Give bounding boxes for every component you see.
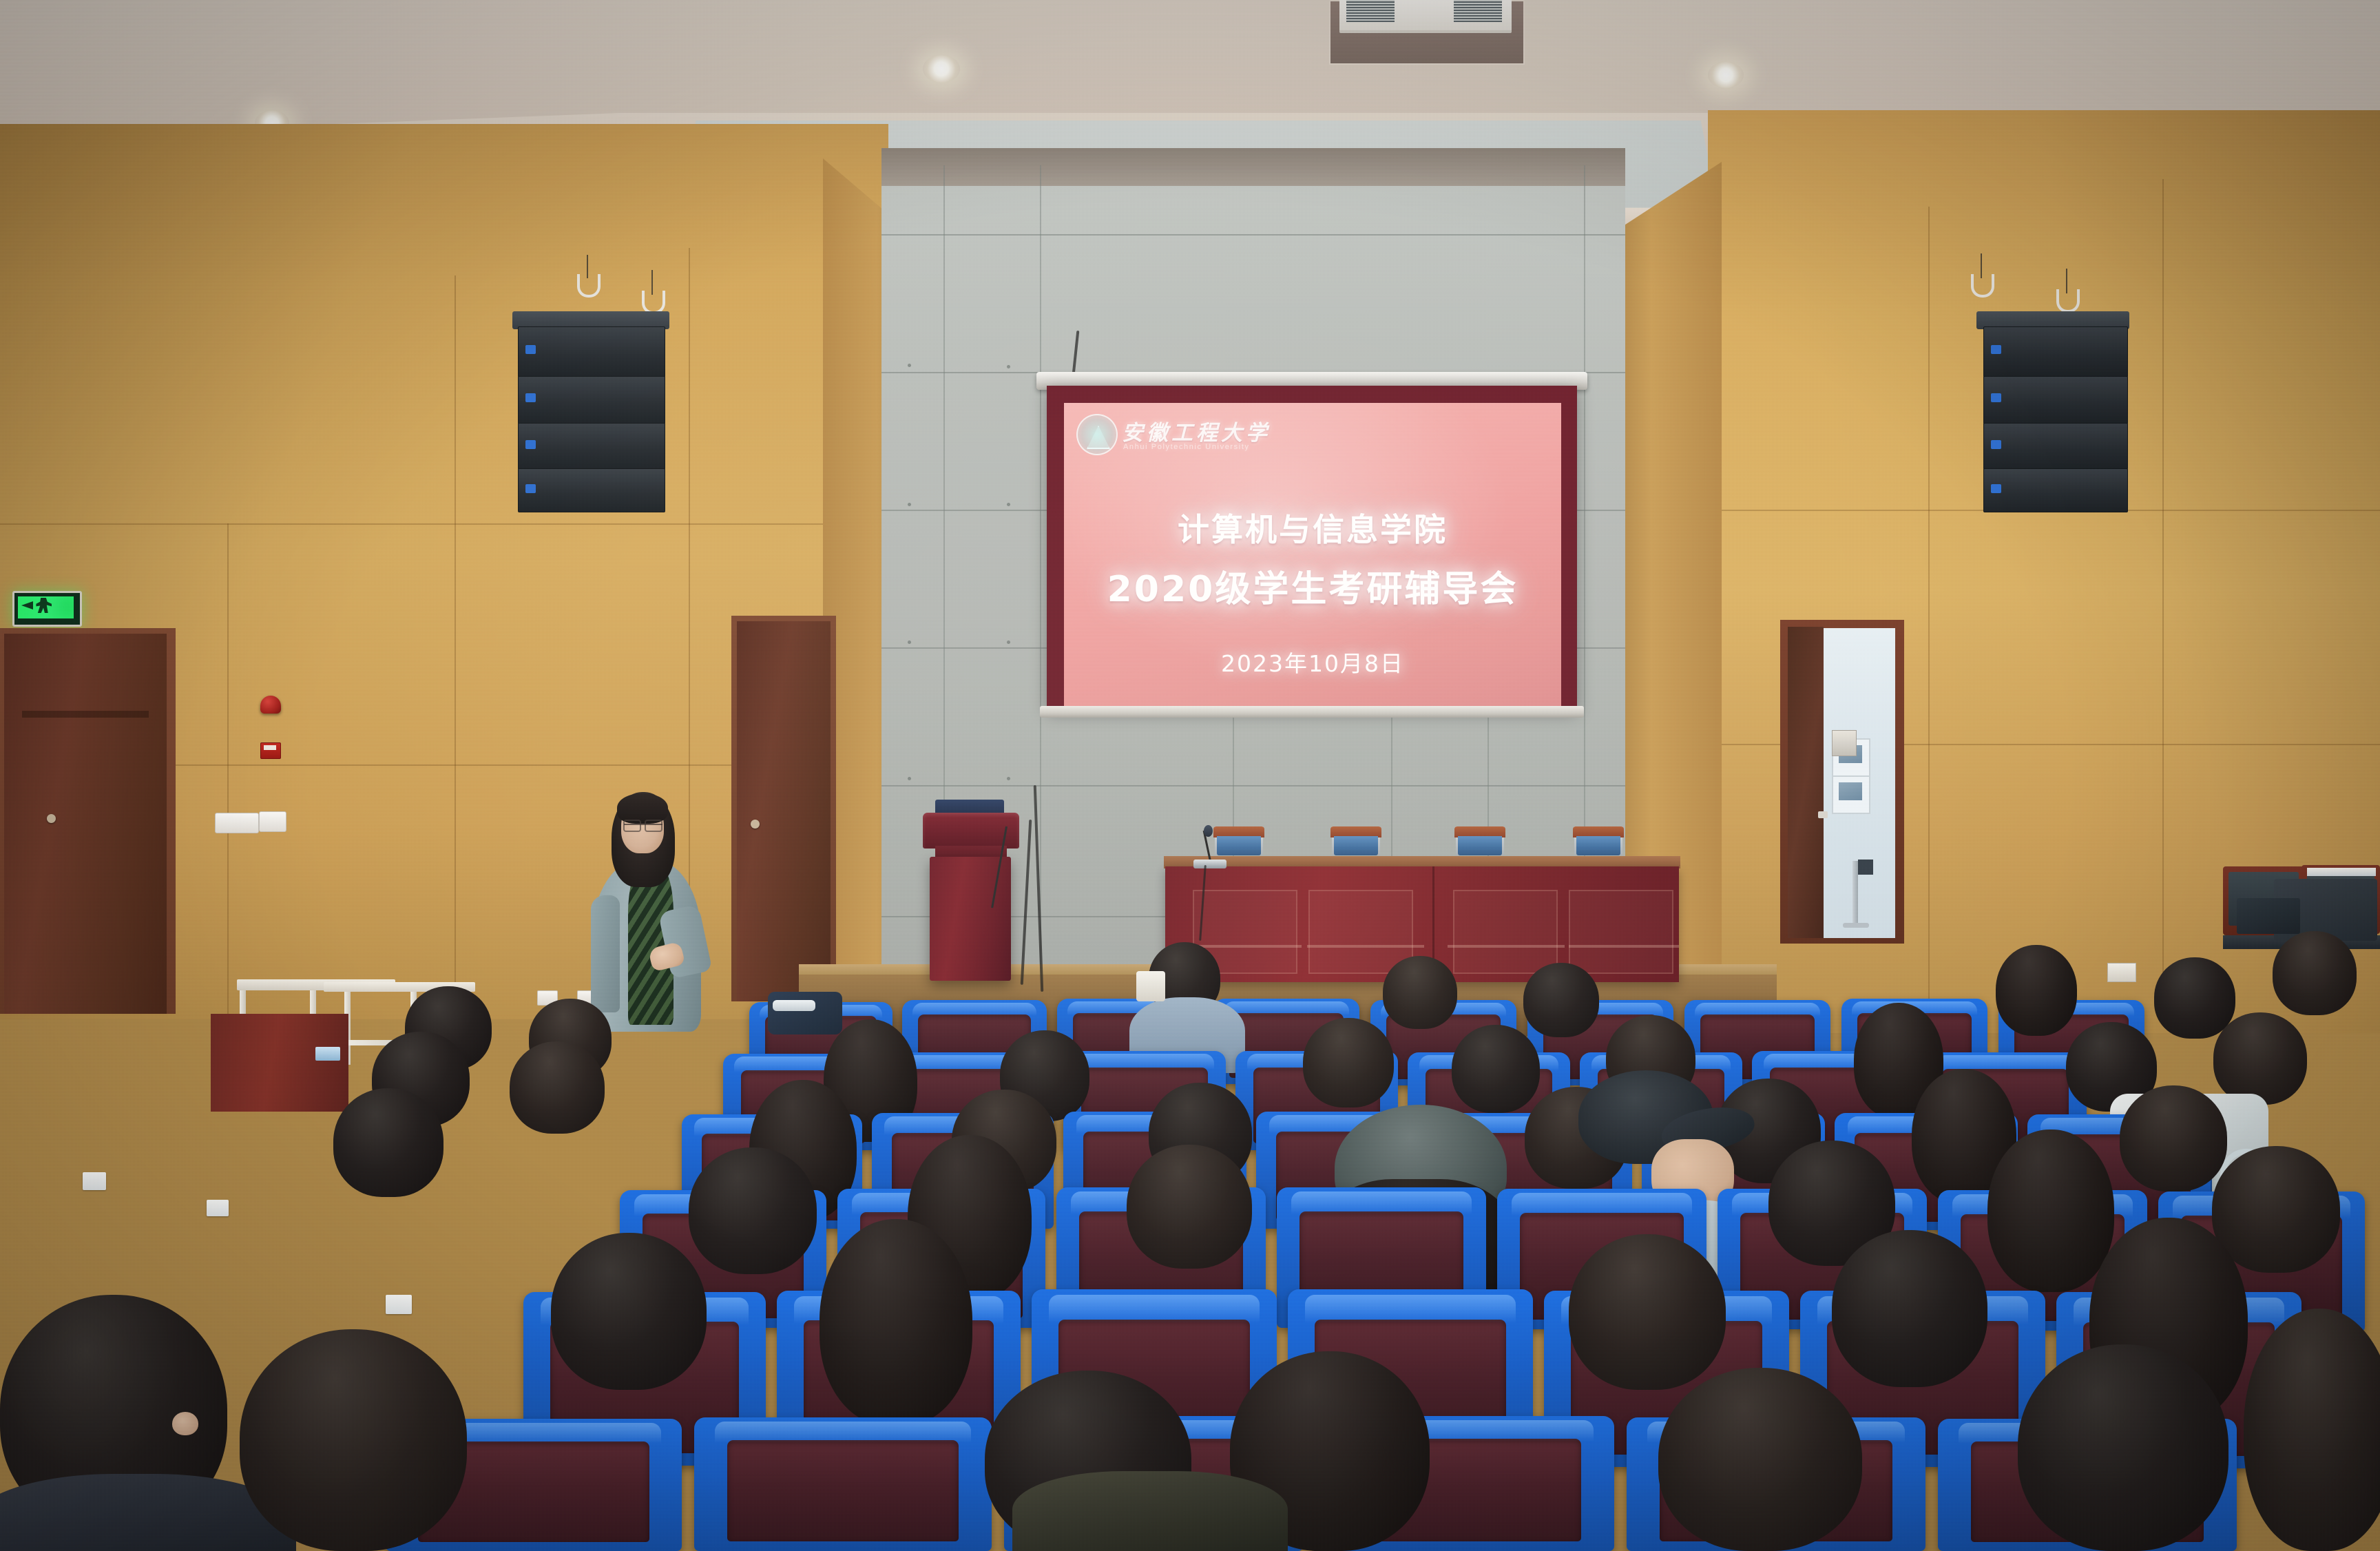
seat-number-label	[207, 1200, 229, 1216]
microphone-capsule	[1204, 825, 1213, 837]
attendee-head	[1127, 1145, 1252, 1269]
attendee-head	[1569, 1234, 1726, 1390]
speaker-hook-icon	[2056, 289, 2080, 313]
paper-on-chair	[2307, 868, 2376, 876]
tile-joint	[881, 234, 1625, 236]
door-handle-icon[interactable]	[1818, 811, 1828, 818]
backpack	[768, 992, 842, 1034]
stage-wall-top-band	[881, 148, 1625, 186]
tile-anchor	[1007, 641, 1010, 644]
fire-alarm-bell	[260, 696, 281, 714]
screen-bottom-bar	[1040, 706, 1584, 718]
downlight	[1708, 62, 1744, 88]
exit-sign	[12, 591, 82, 627]
attendee-head	[2154, 957, 2235, 1039]
speaker-brand-badge	[1991, 484, 2001, 493]
attendee-head-foreground	[2018, 1344, 2228, 1551]
corridor-stand-base	[1843, 923, 1869, 928]
door-right-open[interactable]	[1788, 627, 1824, 938]
door-left-2[interactable]	[737, 621, 831, 1001]
attendee-head	[689, 1147, 817, 1274]
attendee-head	[1987, 1130, 2114, 1292]
speaker-brand-badge	[1991, 345, 2001, 354]
attendee-head	[1523, 963, 1599, 1037]
corridor-wall-box	[1858, 860, 1873, 875]
seat-number-label	[83, 1172, 106, 1190]
wall-seam	[1928, 207, 1930, 1019]
table-rail	[1448, 945, 1565, 948]
university-emblem-icon	[1076, 414, 1118, 455]
speaker-brand-badge	[525, 393, 536, 402]
slide-date: 2023年10月8日	[1064, 645, 1561, 678]
slide-title-line2: 2020级学生考研辅导会	[1064, 560, 1561, 612]
attendee-head-foreground	[240, 1329, 467, 1551]
monitor-screen	[2237, 898, 2300, 934]
wall-seam	[455, 275, 456, 1019]
attendee-head	[2213, 1012, 2307, 1105]
speaker-hook-icon	[577, 274, 601, 298]
attendee-head	[1383, 956, 1457, 1029]
attendee-head	[1832, 1230, 1987, 1387]
tile-anchor	[1007, 365, 1010, 368]
table-rail	[1307, 945, 1424, 948]
table-panel	[1308, 890, 1413, 974]
slide-logo: 安徽工程大学 Anhui Polytechnic University	[1076, 413, 1259, 455]
cabinet-label	[315, 1047, 340, 1061]
slide-title-line1: 计算机与信息学院	[1064, 505, 1561, 550]
tile-joint	[881, 785, 1625, 787]
fire-call-point[interactable]	[260, 742, 281, 759]
light-switch-panel[interactable]	[215, 813, 259, 833]
tile-joint	[1040, 165, 1041, 1006]
attendee-head	[1996, 945, 2077, 1036]
attendee-head	[2120, 1085, 2227, 1191]
door-left[interactable]	[4, 634, 167, 1014]
downlight	[923, 55, 960, 83]
speaker-hook-icon	[642, 291, 665, 314]
glasses-right-lens-icon	[645, 820, 662, 832]
corridor-stand	[1852, 861, 1858, 926]
seat[interactable]	[694, 1417, 992, 1551]
wall-seam	[0, 523, 888, 525]
tile-anchor	[908, 364, 911, 367]
speaker-brand-badge	[525, 484, 536, 493]
table-rail	[1569, 945, 1679, 948]
attendee-shoulders-foreground	[1012, 1471, 1288, 1551]
corridor-picture	[1839, 782, 1862, 800]
tile-anchor	[1007, 503, 1010, 506]
projector	[1339, 0, 1512, 33]
tile-anchor	[1007, 777, 1010, 780]
microphone-base	[1193, 860, 1226, 868]
university-name-cn: 安徽工程大学	[1122, 415, 1271, 446]
speaker-wire	[651, 270, 653, 295]
door-knob-icon[interactable]	[751, 820, 760, 829]
university-name-en: Anhui Polytechnic University	[1123, 443, 1250, 451]
side-cabinet	[211, 1014, 348, 1112]
corridor-frame-lower	[1832, 775, 1870, 814]
light-switch-panel[interactable]	[259, 811, 286, 832]
paper-cup	[1136, 971, 1165, 1001]
attendee-head	[551, 1233, 707, 1390]
attendee-head	[510, 1041, 605, 1134]
seat-number-label	[386, 1295, 412, 1314]
projection-screen: 安徽工程大学 Anhui Polytechnic University 计算机与…	[1064, 403, 1561, 706]
wall-seam	[2162, 179, 2164, 1019]
backpack-strap	[773, 1000, 815, 1011]
door-knob-icon[interactable]	[47, 814, 56, 823]
attendee-head	[1303, 1018, 1394, 1107]
speaker-wire	[2066, 269, 2067, 293]
auditorium-photo: 安徽工程大学 Anhui Polytechnic University 计算机与…	[0, 0, 2380, 1551]
attendee-head	[2212, 1146, 2340, 1273]
speaker-wire	[587, 255, 588, 278]
glasses-bridge-icon	[624, 824, 662, 825]
wall-switch-far-right[interactable]	[2107, 963, 2136, 982]
speaker-brand-badge	[1991, 440, 2001, 449]
speaker-wire	[1981, 253, 1982, 278]
attendee-head	[2273, 931, 2357, 1015]
door-panel-line	[22, 711, 149, 718]
attendee-head	[333, 1088, 443, 1197]
table-panel	[1569, 890, 1673, 974]
tile-anchor	[908, 641, 911, 644]
attendee-head-foreground	[2244, 1309, 2380, 1551]
attendee-head	[820, 1219, 972, 1426]
speaker-brand-badge	[525, 345, 536, 354]
glasses-left-lens-icon	[623, 820, 641, 832]
wall-panel-box	[1832, 730, 1857, 756]
speaker-brand-badge	[1991, 393, 2001, 402]
attendee-head-foreground	[1658, 1368, 1862, 1551]
wall-seam	[227, 523, 229, 1019]
tile-anchor	[908, 503, 911, 506]
table-panel	[1453, 890, 1558, 974]
tile-anchor	[908, 777, 911, 780]
emblem-triangle-icon	[1087, 426, 1110, 449]
attendee-ear	[172, 1412, 198, 1435]
speaker-brand-badge	[525, 440, 536, 449]
speaker-hook-icon	[1971, 274, 1994, 298]
attendee-head	[1452, 1025, 1540, 1113]
presenter-left-arm	[591, 895, 620, 1012]
